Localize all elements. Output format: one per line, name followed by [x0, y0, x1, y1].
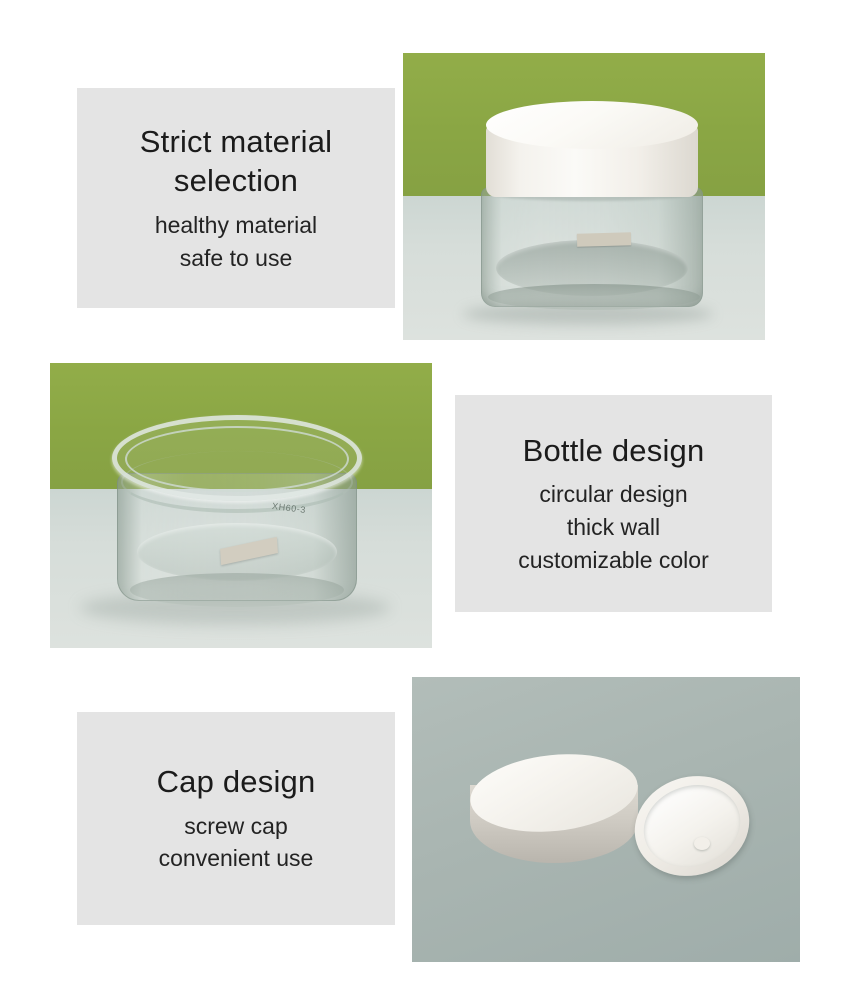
- product-photo-caps: [412, 677, 800, 962]
- jar-body: [481, 187, 703, 307]
- feature-line: screw cap: [184, 810, 288, 843]
- jar-lid-top-face: [486, 101, 698, 149]
- product-photo-closed-jar: [403, 53, 765, 340]
- feature-panel-material: Strict material selection healthy materi…: [77, 88, 395, 308]
- jar-base: [488, 284, 700, 310]
- feature-line: circular design: [539, 478, 687, 511]
- product-feature-infographic: Strict material selection healthy materi…: [0, 0, 850, 1000]
- feature-line: healthy material: [155, 209, 317, 242]
- feature-panel-cap: Cap design screw cap convenient use: [77, 712, 395, 925]
- feature-subtitles-cap: screw cap convenient use: [159, 810, 314, 875]
- feature-subtitles-bottle: circular design thick wall customizable …: [518, 478, 708, 576]
- photo-scene-3: [412, 677, 800, 962]
- cap-inner-nub: [694, 837, 710, 850]
- feature-line: customizable color: [518, 544, 708, 577]
- feature-subtitles-material: healthy material safe to use: [155, 209, 317, 274]
- feature-line: thick wall: [567, 511, 660, 544]
- clear-cosmetic-jar-closed: [479, 101, 705, 313]
- white-screw-cap-upright: [470, 755, 650, 890]
- jar-mouth-inner-rim: [125, 426, 349, 492]
- jar-inner-sticker: [577, 232, 631, 246]
- white-screw-cap-inverted: [634, 777, 750, 883]
- photo-scene-2: XH60-3: [50, 363, 432, 648]
- feature-line: safe to use: [180, 242, 293, 275]
- feature-title-material: Strict material selection: [140, 122, 332, 201]
- photo-scene-1: [403, 53, 765, 340]
- product-photo-open-jar: XH60-3: [50, 363, 432, 648]
- feature-title-cap: Cap design: [157, 762, 316, 802]
- feature-panel-bottle: Bottle design circular design thick wall…: [455, 395, 772, 612]
- clear-cosmetic-jar-open: XH60-3: [112, 415, 362, 620]
- feature-line: convenient use: [159, 842, 314, 875]
- feature-title-bottle: Bottle design: [523, 431, 705, 471]
